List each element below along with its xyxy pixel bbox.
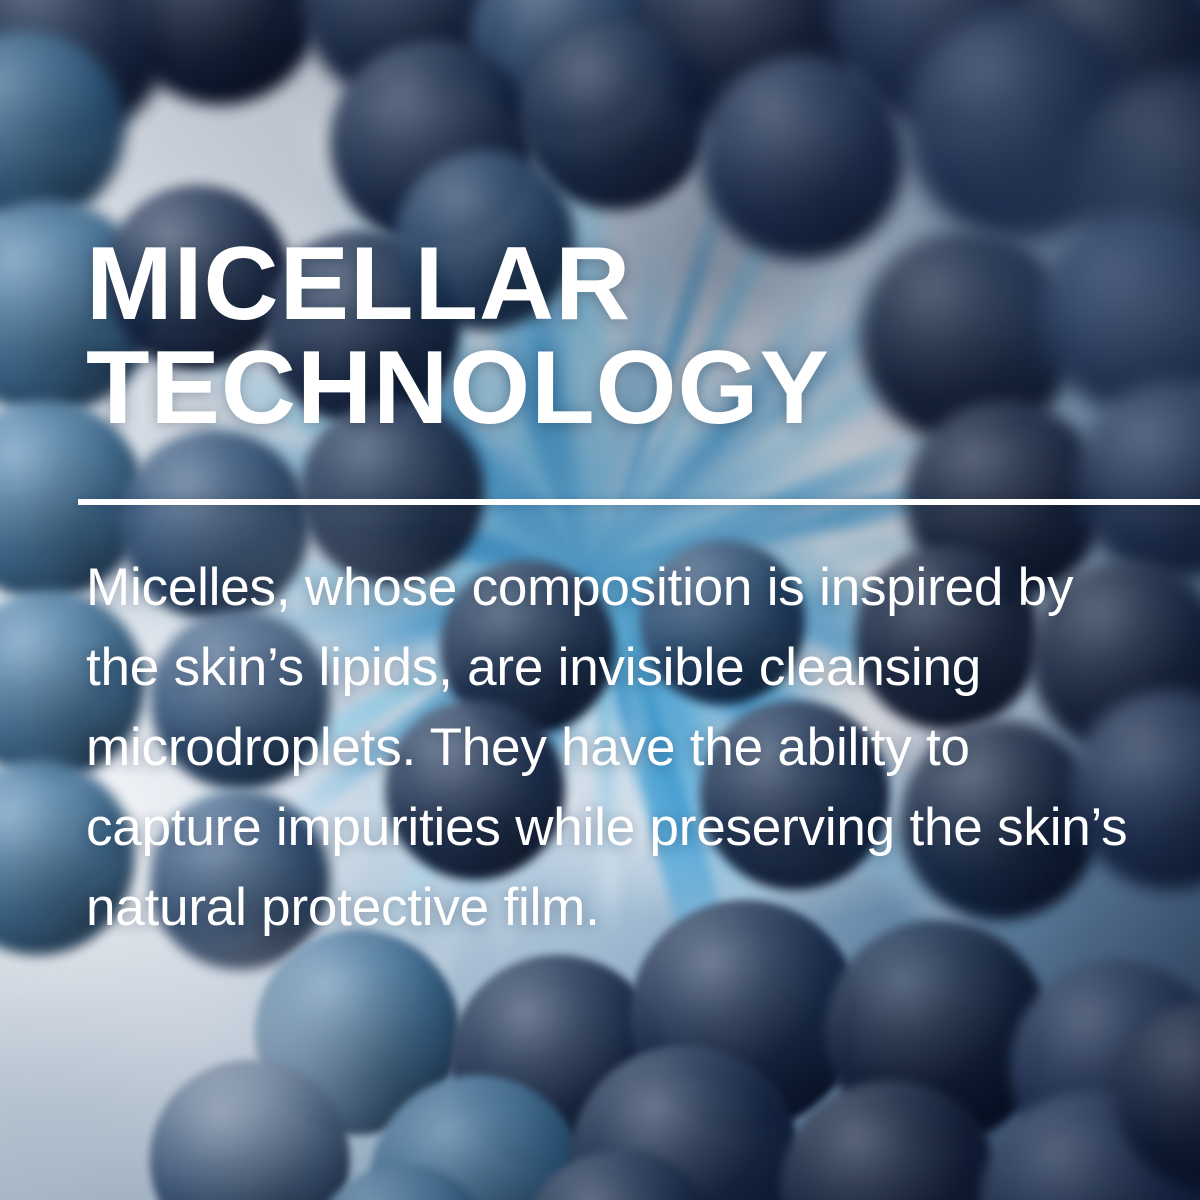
title-divider-rule [78,499,1200,505]
page-title: MICELLAR TECHNOLOGY [86,232,1146,440]
micellar-technology-card: MICELLAR TECHNOLOGY Micelles, whose comp… [0,0,1200,1200]
content-overlay: MICELLAR TECHNOLOGY Micelles, whose comp… [0,0,1200,1200]
body-paragraph: Micelles, whose composition is inspired … [86,548,1158,948]
